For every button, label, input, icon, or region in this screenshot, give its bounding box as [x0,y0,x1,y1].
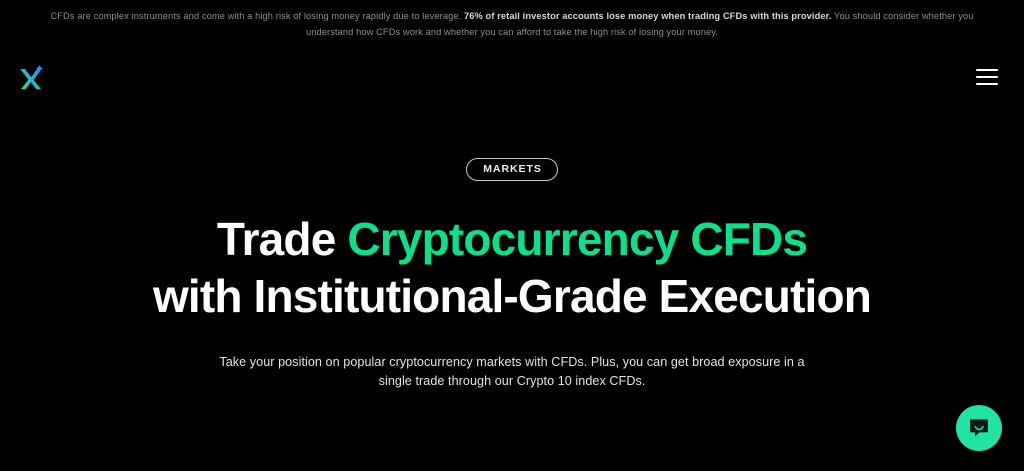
page-title: Trade Cryptocurrency CFDs with Instituti… [0,211,1024,325]
logo-link[interactable] [16,62,46,92]
risk-disclaimer-text: CFDs are complex instruments and come wi… [40,9,984,40]
hamburger-menu-icon[interactable] [968,62,998,92]
title-accent: Cryptocurrency CFDs [347,213,807,265]
markets-badge[interactable]: MARKETS [466,158,558,181]
chat-launcher-button[interactable] [956,405,1002,451]
x-logo [16,62,46,92]
title-line-2: with Institutional-Grade Execution [153,270,871,322]
hero-section: MARKETS Trade Cryptocurrency CFDs with I… [0,108,1024,391]
disclaimer-bold: 76% of retail investor accounts lose mon… [464,11,832,21]
menu-bar-2 [976,76,998,78]
menu-bar-1 [976,69,998,71]
menu-bar-3 [976,83,998,85]
chat-bubble-icon [967,416,991,440]
disclaimer-lead: CFDs are complex instruments and come wi… [50,11,464,21]
title-plain: Trade [217,213,348,265]
hero-subtitle: Take your position on popular cryptocurr… [205,353,820,391]
site-header [0,46,1024,108]
risk-disclaimer-bar: CFDs are complex instruments and come wi… [0,0,1024,46]
title-line-1: Trade Cryptocurrency CFDs [217,213,807,265]
